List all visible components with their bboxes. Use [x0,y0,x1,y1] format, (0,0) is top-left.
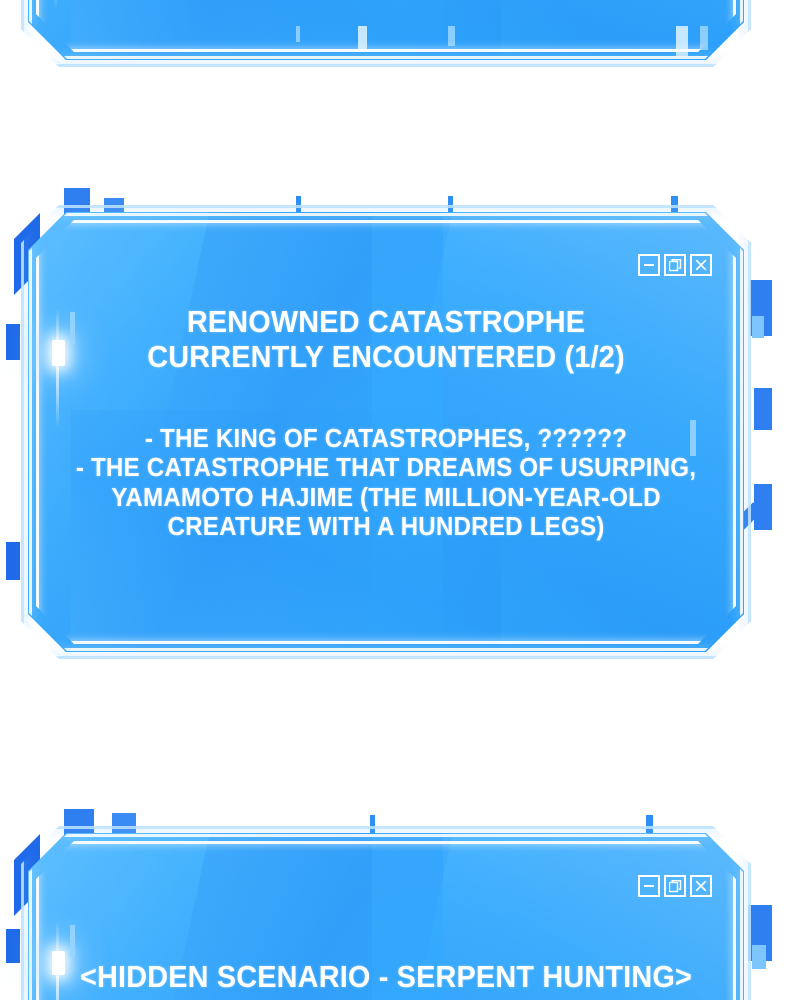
decor-block [754,484,772,530]
decor-block [752,316,764,338]
minimize-button[interactable] [638,875,660,897]
close-icon [695,880,707,892]
panel-facet [71,0,501,60]
panel-facet [28,212,372,652]
close-button[interactable] [690,254,712,276]
panel-facet [443,212,744,652]
close-button[interactable] [690,875,712,897]
close-icon [695,259,707,271]
decor-block [754,388,772,430]
decor-block [748,905,772,961]
minimize-button[interactable] [638,254,660,276]
decor-block [750,280,772,336]
maximize-icon [669,259,682,272]
maximize-button[interactable] [664,875,686,897]
panel-facet [153,168,462,476]
maximize-icon [669,880,682,893]
panel-surface [28,833,744,1000]
window-controls[interactable] [638,875,712,897]
hidden-scenario-panel: <HIDDEN SCENARIO - SERPENT HUNTING> [28,833,744,1000]
panel-facet [443,0,744,60]
panel-facet [443,833,744,1000]
panel-surface [28,212,744,652]
decor-block [6,929,20,963]
renowned-catastrophe-panel: RENOWNED CATASTROPHE CURRENTLY ENCOUNTER… [28,212,744,652]
minimize-icon [643,259,655,271]
decor-block [6,542,20,580]
minimize-icon [643,880,655,892]
decor-block [6,324,20,360]
panel-facet [28,833,372,1000]
maximize-button[interactable] [664,254,686,276]
panel-facet [153,789,462,1000]
panel-facet [28,0,372,60]
decor-block [752,945,766,969]
screenshot-stage: RENOWNED CATASTROPHE CURRENTLY ENCOUNTER… [0,0,800,1000]
previous-system-panel [28,0,744,60]
panel-facet [71,410,501,652]
panel-surface [28,0,744,60]
window-controls[interactable] [638,254,712,276]
